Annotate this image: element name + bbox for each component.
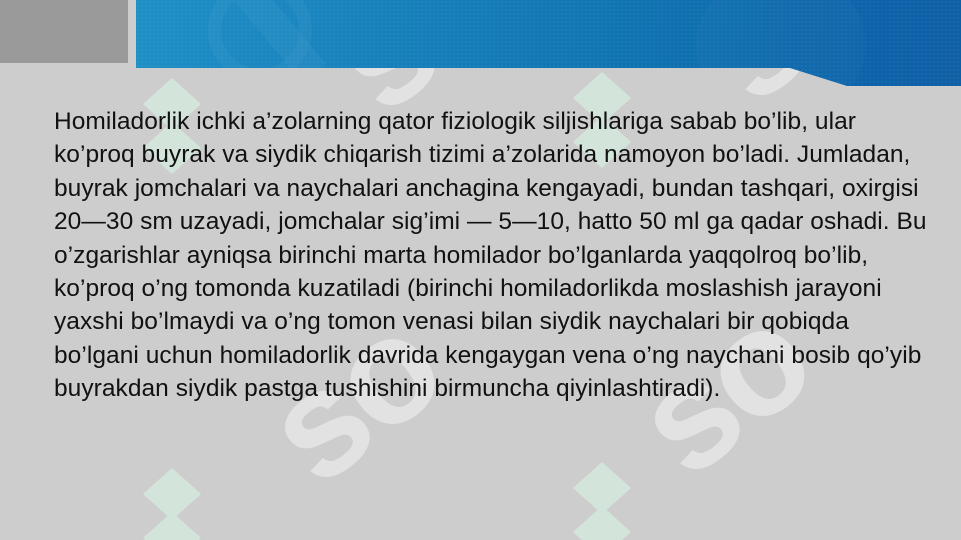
- texture-blob: [696, 0, 866, 120]
- slide-canvas: so so so so: [0, 0, 961, 540]
- header-gray-block: [0, 0, 128, 63]
- header-blue-banner-texture: [136, 0, 961, 86]
- slide-body-text: Homiladorlik ichki a’zolarning qator fiz…: [54, 105, 929, 406]
- header-blue-banner: [136, 0, 961, 86]
- k-logo-watermark-4: [573, 462, 631, 540]
- k-logo-watermark-3: [143, 468, 201, 540]
